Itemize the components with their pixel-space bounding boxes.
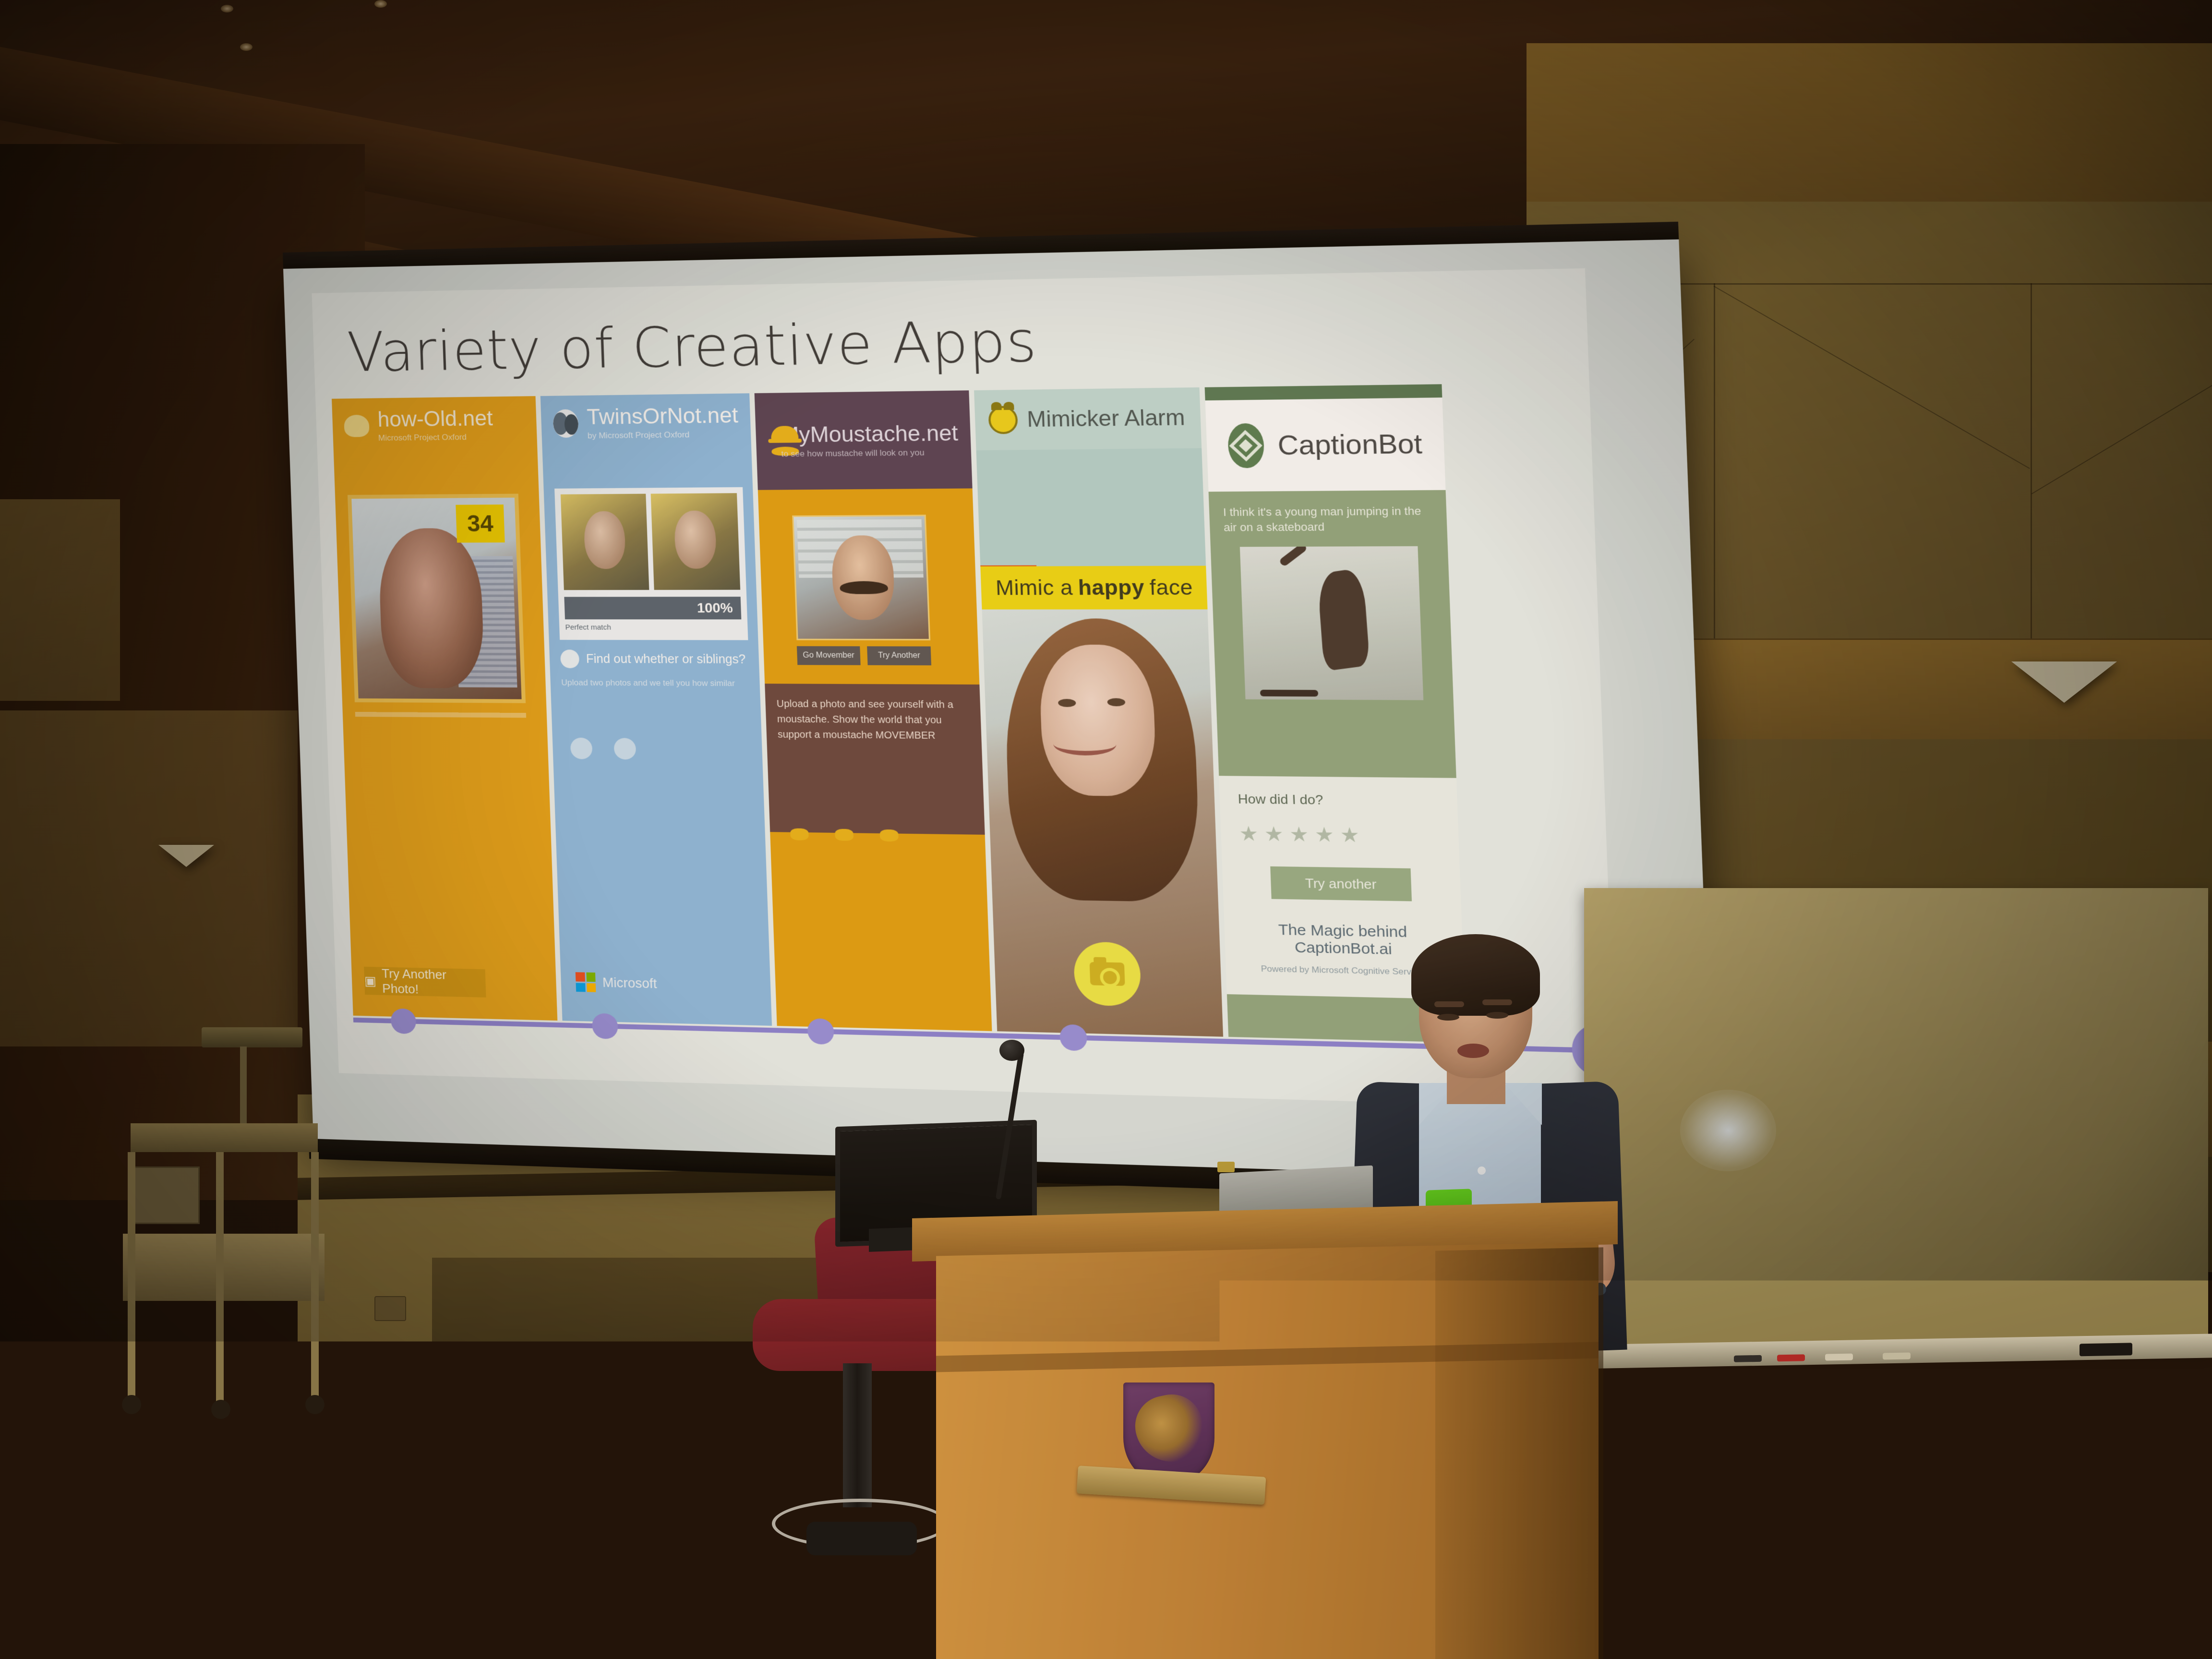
ceiling-light-icon — [374, 0, 387, 8]
av-cart — [120, 1123, 326, 1421]
wall-socket — [374, 1296, 406, 1321]
panel-seam — [1714, 283, 1715, 638]
ceiling-light-icon — [221, 5, 233, 12]
panel-seam — [2031, 283, 2032, 638]
rating-prompt: How did I do? — [1238, 791, 1439, 809]
how-old-caption-bar — [355, 712, 526, 718]
captionbot-image — [1240, 546, 1423, 700]
star-rating[interactable]: ★ ★ ★ ★ ★ — [1239, 822, 1441, 848]
wall-band — [1527, 43, 2212, 202]
twins-small-icon — [560, 649, 579, 668]
twin-faces-icon — [553, 409, 578, 438]
social-share-row[interactable] — [570, 737, 637, 759]
try-photo-label: Try Another Photo! — [382, 966, 486, 998]
twitter-icon[interactable] — [613, 738, 636, 759]
moustache-photo — [792, 515, 930, 640]
slide-title: Variety of Creative Apps — [346, 309, 1038, 384]
acoustic-triangle — [2011, 661, 2117, 703]
banner-prefix: Mimic a — [995, 576, 1073, 600]
alarm-clock-icon — [988, 406, 1018, 434]
eye — [1437, 1014, 1459, 1021]
microsoft-logo: Microsoft — [576, 972, 657, 994]
ceiling-light-icon — [240, 43, 252, 51]
go-movember-button[interactable]: Go Movember — [797, 646, 861, 665]
match-caption: Perfect match — [565, 623, 742, 632]
captionbot-name: CaptionBot — [1277, 428, 1423, 461]
twins-photo-left — [561, 494, 649, 590]
cart-wheel — [305, 1395, 325, 1414]
stool-column — [843, 1363, 872, 1507]
shirt-collar-right — [1504, 1083, 1542, 1125]
try-another-photo-button[interactable]: ▣ Try Another Photo! — [364, 967, 486, 998]
eraser — [2080, 1343, 2132, 1356]
cart-leg — [128, 1152, 135, 1402]
how-old-name: how-Old.net — [377, 408, 493, 431]
twins-question-text: Find out whether or siblings? — [586, 652, 745, 667]
skateboard — [1260, 690, 1318, 697]
twins-question: Find out whether or siblings? — [560, 649, 750, 669]
cart-equipment-box — [128, 1166, 200, 1224]
moustache-strip-text: Upload a photo and see yourself with a m… — [765, 684, 985, 835]
cart-leg — [216, 1152, 224, 1402]
cart-top-shelf — [131, 1123, 318, 1152]
mimicker-selfie — [982, 609, 1224, 1036]
whiteboard-glare — [1680, 1090, 1776, 1171]
skateboarder-figure — [1317, 568, 1370, 672]
moustache-overlay — [840, 581, 888, 594]
how-old-header: how-Old.net Microsoft Project Oxford — [332, 396, 538, 454]
eyebrow — [1434, 1001, 1464, 1007]
photo-eye — [1058, 699, 1076, 707]
captionbot-result-panel: I think it's a young man jumping in the … — [1209, 490, 1456, 778]
panel-seam — [1714, 286, 2030, 469]
marker — [1825, 1354, 1853, 1361]
wall-panel — [0, 499, 120, 701]
laptop-hinge — [1217, 1162, 1235, 1172]
mimicker-header: Mimicker Alarm — [974, 387, 1202, 450]
projector-head — [202, 1027, 302, 1047]
twins-result-card: 100% Perfect match — [554, 487, 748, 640]
university-crest — [1123, 1382, 1214, 1495]
microsoft-squares-icon — [576, 972, 596, 992]
camera-icon — [1090, 962, 1125, 986]
moustache-header: MyMoustache.net to see how mustache will… — [755, 390, 973, 490]
app-tile-how-old[interactable]: how-Old.net Microsoft Project Oxford 34 … — [332, 396, 557, 1021]
how-old-photo: 34 — [348, 493, 526, 703]
age-badge: 34 — [456, 505, 505, 542]
lecture-hall-scene: Variety of Creative Apps how-Old.net Mic… — [0, 0, 2212, 1659]
mimicker-name: Mimicker Alarm — [1026, 405, 1185, 432]
match-percent: 100% — [564, 597, 741, 619]
skateboarder-arm — [1278, 546, 1308, 567]
hair — [1411, 934, 1540, 1016]
moustache-dots — [790, 828, 899, 842]
app-tile-my-moustache[interactable]: MyMoustache.net to see how mustache will… — [755, 390, 992, 1031]
twins-subtext: Upload two photos and we tell you how si… — [561, 678, 751, 688]
panel-seam — [2031, 306, 2212, 494]
podium — [893, 1142, 1661, 1659]
app-tile-mimicker-alarm[interactable]: Mimicker Alarm Mimic a happy face — [974, 387, 1223, 1037]
podium-side-panel — [1435, 1247, 1603, 1659]
app-tile-twins-or-not[interactable]: TwinsOrNot.net by Microsoft Project Oxfo… — [541, 393, 772, 1026]
twins-header: TwinsOrNot.net by Microsoft Project Oxfo… — [541, 393, 752, 452]
photo-face — [378, 528, 485, 688]
cart-leg — [311, 1152, 319, 1402]
cart-wheel — [122, 1395, 141, 1414]
cart-wheel — [211, 1400, 230, 1419]
twins-subtitle: by Microsoft Project Oxford — [588, 430, 739, 441]
twins-name: TwinsOrNot.net — [587, 404, 739, 429]
acoustic-triangle — [158, 845, 214, 867]
eyebrow — [1482, 999, 1512, 1005]
eye — [1486, 1012, 1508, 1019]
marker — [1777, 1354, 1805, 1361]
camera-icon: ▣ — [364, 973, 377, 988]
microsoft-wordmark: Microsoft — [602, 975, 657, 991]
mimic-banner: Mimic a happy face — [980, 566, 1207, 610]
marker — [1734, 1355, 1762, 1362]
twins-photo-pair — [561, 493, 740, 590]
facebook-icon[interactable] — [570, 737, 593, 759]
marker — [1883, 1352, 1911, 1359]
monitor-stand — [869, 1227, 913, 1252]
captionbot-caption: I think it's a young man jumping in the … — [1223, 504, 1433, 535]
try-another-button[interactable]: Try Another — [867, 646, 931, 665]
moustache-name: MyMoustache.net — [780, 422, 958, 447]
how-old-face-icon — [344, 415, 370, 437]
photo-eye — [1107, 698, 1125, 706]
banner-suffix: face — [1149, 576, 1193, 600]
moustache-subtitle: to see how mustache will look on you — [781, 448, 959, 458]
banner-bold: happy — [1078, 576, 1145, 600]
bowler-hat-moustache-icon — [768, 426, 772, 457]
wall-panel — [0, 710, 298, 1046]
moustache-buttons[interactable]: Go Movember Try Another — [797, 646, 931, 665]
try-another-button[interactable]: Try another — [1270, 866, 1412, 902]
mouth — [1457, 1044, 1489, 1058]
microphone-icon — [999, 1040, 1024, 1061]
cart-mid-shelf — [123, 1234, 325, 1301]
twins-photo-right — [651, 493, 741, 590]
how-old-subtitle: Microsoft Project Oxford — [378, 433, 493, 443]
captionbot-header: CaptionBot — [1205, 397, 1446, 492]
captionbot-logo-icon — [1227, 423, 1265, 468]
camera-capture-button[interactable] — [1073, 941, 1142, 1006]
